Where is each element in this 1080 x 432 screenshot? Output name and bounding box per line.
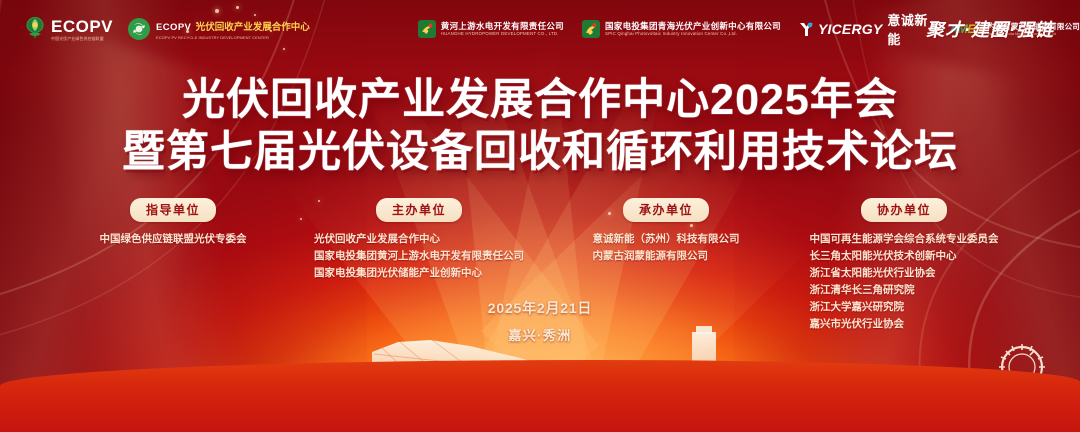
organizer-item: 长三角太阳能光伏技术创新中心 xyxy=(810,248,999,265)
logo-huanghe-cn: 黄河上游水电开发有限责任公司 xyxy=(441,22,564,31)
logo-spic-en: SPIC Qinghai Photovoltaic Industry Innov… xyxy=(605,32,781,36)
logo-ecopv-wordmark: ECOPV xyxy=(51,18,113,35)
main-title-block: 光伏回收产业发展合作中心2025年会 暨第七届光伏设备回收和循环利用技术论坛 xyxy=(0,78,1080,175)
logo-yicergy-cn: 意诚新能 xyxy=(887,10,931,48)
organizer-item: 中国可再生能源学会综合系统专业委员会 xyxy=(810,231,999,248)
ground-plane xyxy=(0,360,1080,432)
logo-ecopv-center: ECOPV 光伏回收产业发展合作中心 ECOPV PV RECYCLE INDU… xyxy=(127,17,310,41)
logo-yicergy-text: YICERGY 意诚新能 xyxy=(818,10,932,48)
logo-spic-text: 国家电投集团青海光伏产业创新中心有限公司 SPIC Qinghai Photov… xyxy=(605,22,781,37)
organizer-item: 中国绿色供应链联盟光伏专委会 xyxy=(100,231,247,248)
logo-ecopv-alliance-text: ECOPV 中国光伏产业绿色供应链联盟 xyxy=(51,18,113,41)
organizer-item: 浙江省太阳能光伏行业协会 xyxy=(810,265,999,282)
organizer-column-guidance: 指导单位 中国绿色供应链联盟光伏专委会 xyxy=(56,198,290,248)
ecopv-emblem-icon xyxy=(24,16,46,42)
logo-spic-qinghai: 国家电投集团青海光伏产业创新中心有限公司 SPIC Qinghai Photov… xyxy=(582,20,781,38)
logo-yicergy: YICERGY 意诚新能 xyxy=(799,10,932,48)
organizer-item: 意诚新能（苏州）科技有限公司 xyxy=(593,231,740,248)
logo-huanghe-text: 黄河上游水电开发有限责任公司 HUANGHE HYDROPOWER DEVELO… xyxy=(441,22,564,37)
organizer-list-guidance: 中国绿色供应链联盟光伏专委会 xyxy=(100,231,247,248)
conference-banner: ECOPV 中国光伏产业绿色供应链联盟 ECOPV xyxy=(0,0,1080,432)
organizer-column-organizer: 承办单位 意诚新能（苏州）科技有限公司 内蒙古润蒙能源有限公司 xyxy=(548,198,784,265)
organizer-item: 光伏回收产业发展合作中心 xyxy=(314,231,524,248)
logo-ecopv-center-text: ECOPV 光伏回收产业发展合作中心 ECOPV PV RECYCLE INDU… xyxy=(156,18,310,40)
title-line-1: 光伏回收产业发展合作中心2025年会 xyxy=(0,78,1080,124)
organizer-badge-copartner: 协办单位 xyxy=(861,198,947,222)
title-line-2: 暨第七届光伏设备回收和循环利用技术论坛 xyxy=(0,130,1080,176)
spic-logo-icon xyxy=(582,20,600,38)
logo-group-left: ECOPV 中国光伏产业绿色供应链联盟 ECOPV xyxy=(24,16,310,42)
logo-ecopv-alliance: ECOPV 中国光伏产业绿色供应链联盟 xyxy=(24,16,113,42)
organizer-column-host: 主办单位 光伏回收产业发展合作中心 国家电投集团黄河上游水电开发有限责任公司 国… xyxy=(290,198,548,282)
logo-yicergy-wordmark: YICERGY xyxy=(818,22,882,36)
organizer-item: 浙江清华长三角研究院 xyxy=(810,282,999,299)
logo-huanghe-hydropower: 黄河上游水电开发有限责任公司 HUANGHE HYDROPOWER DEVELO… xyxy=(418,20,564,38)
header-slogan: 聚才·建圈·强链 xyxy=(926,16,1054,42)
organizer-badge-organizer: 承办单位 xyxy=(623,198,709,222)
organizer-item: 内蒙古润蒙能源有限公司 xyxy=(593,248,740,265)
organizer-badge-host: 主办单位 xyxy=(376,198,462,222)
organizer-badge-guidance: 指导单位 xyxy=(130,198,216,222)
logo-ecopv-center-en: ECOPV xyxy=(156,22,191,33)
logo-ecopv-center-title: ECOPV 光伏回收产业发展合作中心 xyxy=(156,18,310,34)
logo-ecopv-center-cn: 光伏回收产业发展合作中心 xyxy=(196,22,310,33)
organizer-item: 国家电投集团光伏储能产业创新中心 xyxy=(314,265,524,282)
organizer-item: 国家电投集团黄河上游水电开发有限责任公司 xyxy=(314,248,524,265)
logo-huanghe-en: HUANGHE HYDROPOWER DEVELOPMENT CO., LTD. xyxy=(441,32,564,36)
logo-ecopv-center-subtitle: ECOPV PV RECYCLE INDUSTRY DEVELOPMENT CE… xyxy=(156,36,310,40)
organizer-list-organizer: 意诚新能（苏州）科技有限公司 内蒙古润蒙能源有限公司 xyxy=(593,231,740,265)
ecopv-circle-icon xyxy=(127,17,151,41)
yicergy-logo-icon xyxy=(799,21,813,37)
logo-spic-cn: 国家电投集团青海光伏产业创新中心有限公司 xyxy=(605,22,781,31)
logo-bar: ECOPV 中国光伏产业绿色供应链联盟 ECOPV xyxy=(0,0,1080,58)
organizer-list-host: 光伏回收产业发展合作中心 国家电投集团黄河上游水电开发有限责任公司 国家电投集团… xyxy=(314,231,524,282)
logo-ecopv-subtitle: 中国光伏产业绿色供应链联盟 xyxy=(51,37,113,41)
jiaxing-skyline-silhouette xyxy=(0,312,1080,432)
huanghe-logo-icon xyxy=(418,20,436,38)
